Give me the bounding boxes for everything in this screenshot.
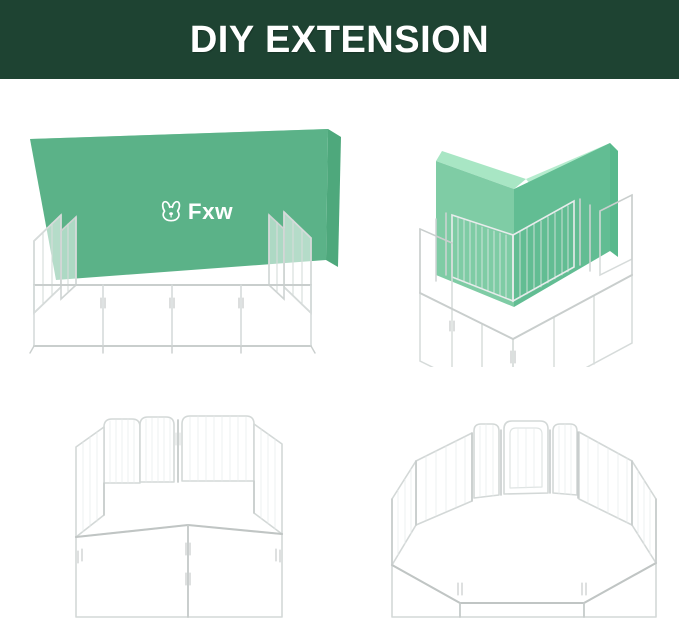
figure-grid: Fxw	[0, 79, 679, 634]
figure-bottom-left	[70, 403, 320, 618]
figure-top-left: Fxw	[16, 117, 356, 367]
product-infographic-page: DIY EXTENSION	[0, 0, 679, 634]
figure-top-right	[414, 117, 654, 367]
figure-bottom-right	[388, 403, 658, 618]
page-title: DIY EXTENSION	[190, 21, 489, 59]
svg-text:Fxw: Fxw	[188, 199, 233, 224]
header-banner: DIY EXTENSION	[0, 0, 679, 79]
